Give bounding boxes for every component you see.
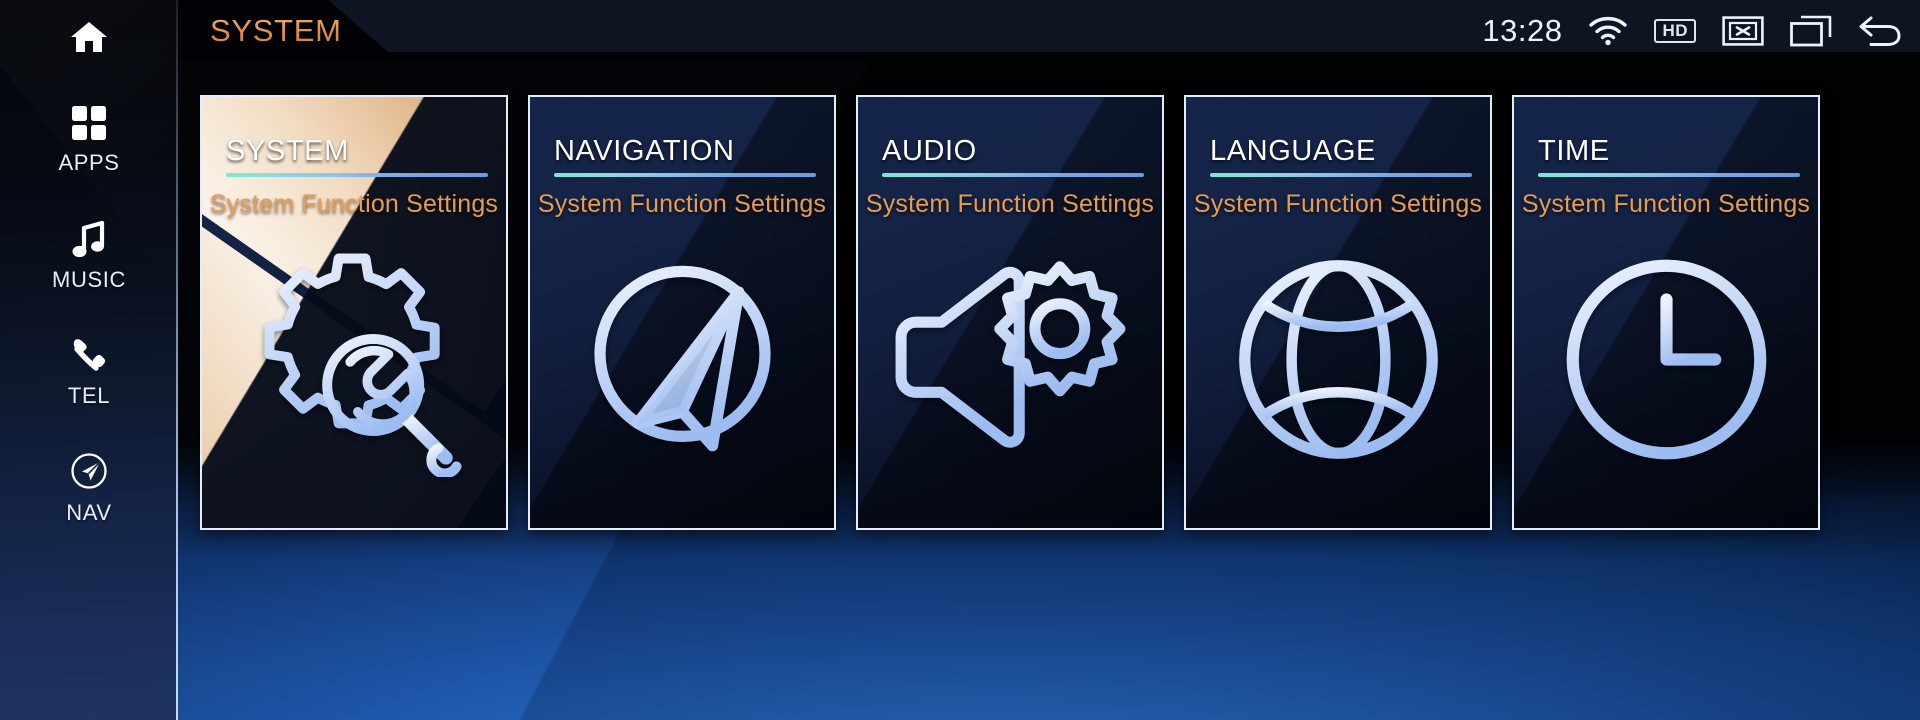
status-bar: SYSTEM 13:28 HD bbox=[178, 0, 1920, 62]
tile-subtitle: System Function Settings bbox=[1186, 190, 1490, 219]
screen-off-icon[interactable] bbox=[1722, 16, 1764, 46]
apps-grid-icon bbox=[71, 105, 107, 141]
tile-title: LANGUAGE bbox=[1210, 135, 1376, 168]
sidebar-item-music[interactable]: MUSIC bbox=[0, 202, 178, 310]
home-icon bbox=[69, 20, 109, 54]
infotainment-screen: APPS MUSIC TEL bbox=[0, 0, 1920, 720]
tile-subtitle: System Function Settings bbox=[202, 190, 506, 219]
tile-title: AUDIO bbox=[882, 135, 977, 168]
tile-time[interactable]: TIME System Function Settings bbox=[1512, 95, 1820, 530]
tile-title: TIME bbox=[1538, 135, 1610, 168]
status-icons: 13:28 HD bbox=[1482, 0, 1902, 62]
sidebar-item-label: MUSIC bbox=[52, 267, 126, 293]
compass-arrow-circle-icon bbox=[530, 247, 834, 472]
compass-arrow-icon bbox=[69, 451, 109, 491]
tile-underline bbox=[1538, 173, 1800, 177]
hd-icon[interactable]: HD bbox=[1654, 19, 1696, 44]
tile-navigation[interactable]: NAVIGATION System Function Settings bbox=[528, 95, 836, 530]
sidebar-item-label: APPS bbox=[58, 150, 119, 176]
tile-title: NAVIGATION bbox=[554, 135, 735, 168]
settings-tile-row: SYSTEM System Function Settings bbox=[200, 95, 1820, 530]
sidebar-item-label: TEL bbox=[68, 383, 110, 409]
tile-subtitle: System Function Settings bbox=[858, 190, 1162, 219]
page-title: SYSTEM bbox=[210, 13, 342, 49]
sidebar-item-home[interactable] bbox=[0, 6, 178, 68]
speaker-gear-icon bbox=[858, 247, 1162, 462]
tile-title: SYSTEM bbox=[226, 135, 349, 168]
wifi-icon[interactable] bbox=[1588, 16, 1628, 46]
sidebar-item-tel[interactable]: TEL bbox=[0, 318, 178, 426]
tile-system[interactable]: SYSTEM System Function Settings bbox=[200, 95, 508, 530]
tile-underline bbox=[882, 173, 1144, 177]
hd-badge-label: HD bbox=[1654, 19, 1696, 44]
clock: 13:28 bbox=[1482, 13, 1562, 49]
tile-subtitle: System Function Settings bbox=[530, 190, 834, 219]
back-arrow-icon[interactable] bbox=[1858, 15, 1902, 47]
main-content: SYSTEM 13:28 HD bbox=[178, 0, 1920, 720]
clock-icon bbox=[1514, 247, 1818, 472]
sidebar: APPS MUSIC TEL bbox=[0, 0, 178, 720]
tile-subtitle: System Function Settings bbox=[1514, 190, 1818, 219]
tile-language[interactable]: LANGUAGE System Function Settings bbox=[1184, 95, 1492, 530]
multi-window-icon[interactable] bbox=[1790, 15, 1832, 47]
tile-audio[interactable]: AUDIO System Function Settings bbox=[856, 95, 1164, 530]
tile-underline bbox=[1210, 173, 1472, 177]
phone-handset-icon bbox=[69, 336, 109, 374]
globe-icon bbox=[1186, 247, 1490, 472]
tile-underline bbox=[226, 173, 488, 177]
gear-wrench-icon bbox=[202, 247, 506, 477]
tile-underline bbox=[554, 173, 816, 177]
sidebar-item-apps[interactable]: APPS bbox=[0, 86, 178, 194]
music-note-icon bbox=[71, 220, 107, 258]
sidebar-item-nav[interactable]: NAV bbox=[0, 434, 178, 542]
sidebar-item-label: NAV bbox=[66, 500, 111, 526]
